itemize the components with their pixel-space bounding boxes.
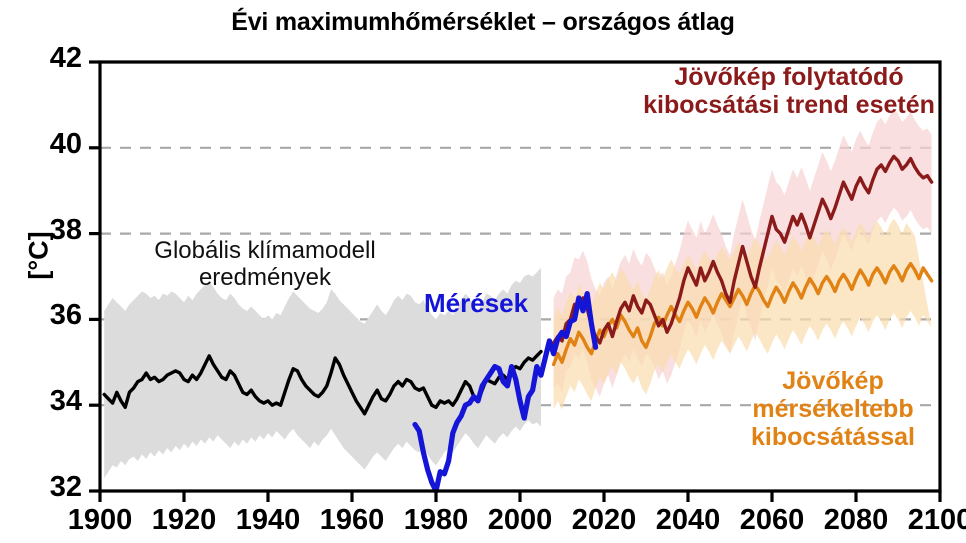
y-tick-label-42: 42 bbox=[20, 42, 82, 75]
annotation-historical-model: Globális klímamodell eredmények bbox=[140, 238, 390, 292]
y-tick-label-36: 36 bbox=[20, 299, 82, 332]
x-tick-label-2100: 2100 bbox=[880, 504, 966, 537]
annotation-historical-model-line1: Globális klímamodell bbox=[154, 237, 375, 264]
annotation-rcp85: Jövőkép folytatódó kibocsátási trend ese… bbox=[624, 63, 954, 119]
page-title: Évi maximumhőmérséklet – országos átlag bbox=[0, 8, 966, 37]
y-tick-label-34: 34 bbox=[20, 385, 82, 418]
annotation-rcp85-line1: Jövőkép folytatódó bbox=[674, 63, 903, 91]
annotation-rcp45-line3: kibocsátással bbox=[751, 423, 915, 451]
annotation-rcp45-line1: Jövőkép bbox=[782, 367, 883, 395]
y-tick-label-32: 32 bbox=[20, 471, 82, 504]
annotation-rcp45-line2: mérsékeltebb bbox=[752, 395, 913, 423]
annotation-rcp45: Jövőkép mérsékeltebb kibocsátással bbox=[718, 367, 948, 451]
annotation-measurements: Mérések bbox=[424, 289, 574, 318]
annotation-historical-model-line2: eredmények bbox=[199, 264, 331, 291]
y-tick-label-38: 38 bbox=[20, 214, 82, 247]
annotation-rcp85-line2: kibocsátási trend esetén bbox=[643, 91, 935, 119]
y-tick-label-40: 40 bbox=[20, 128, 82, 161]
climate-chart-figure: Évi maximumhőmérséklet – országos átlag … bbox=[0, 0, 966, 543]
